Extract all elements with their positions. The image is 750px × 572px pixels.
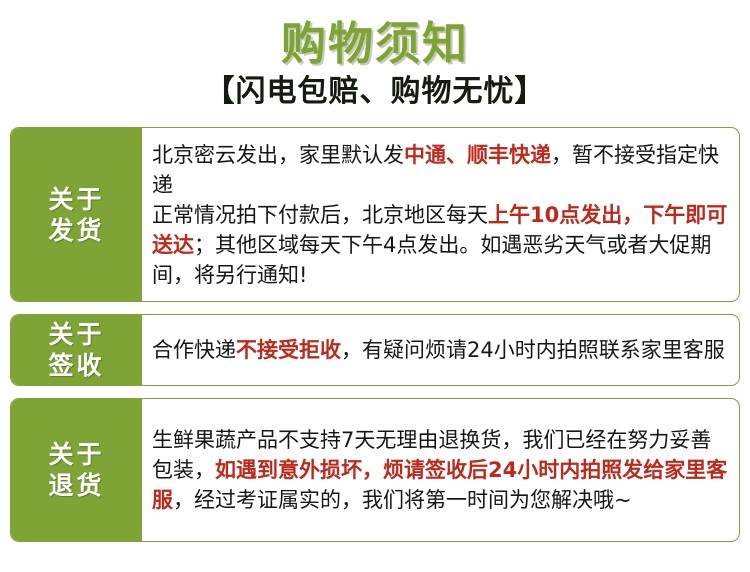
section-label-line-1: 关于 [48, 439, 104, 470]
shopping-notice-page: 购物须知 【闪电包赔、购物无忧】 关于 发货 北京密云发出，家里默认发中通、顺丰… [0, 0, 750, 572]
section-label-line-2: 发货 [48, 215, 104, 246]
page-header: 购物须知 【闪电包赔、购物无忧】 [0, 0, 750, 110]
body-text: 合作快递 [152, 338, 236, 362]
section-label-line-1: 关于 [48, 184, 104, 215]
section-delivery: 关于 发货 北京密云发出，家里默认发中通、顺丰快递，暂不接受指定快递 正常情况拍… [10, 127, 740, 302]
section-signing: 关于 签收 合作快递不接受拒收，有疑问烦请24小时内拍照联系家里客服 [10, 314, 740, 386]
section-body-signing: 合作快递不接受拒收，有疑问烦请24小时内拍照联系家里客服 [142, 315, 739, 385]
page-title: 购物须知 [0, 18, 750, 70]
notice-sections: 关于 发货 北京密云发出，家里默认发中通、顺丰快递，暂不接受指定快递 正常情况拍… [0, 127, 750, 542]
section-label-line-1: 关于 [48, 319, 104, 350]
body-text: 正常情况拍下付款后，北京地区每天 [152, 203, 488, 227]
body-text: ，有疑问烦请24小时内拍照联系家里客服 [341, 338, 725, 362]
paragraph: 北京密云发出，家里默认发中通、顺丰快递，暂不接受指定快递 [152, 140, 731, 200]
body-text: ，经过考证属实的，我们将第一时间为您解决哦~ [173, 488, 632, 512]
section-body-return: 生鲜果蔬产品不支持7天无理由退换货，我们已经在努力妥善包装，如遇到意外损坏，烦请… [142, 399, 739, 541]
body-text: 北京密云发出，家里默认发 [152, 143, 404, 167]
section-label-return: 关于 退货 [11, 399, 142, 541]
section-label-delivery: 关于 发货 [11, 128, 142, 301]
section-return: 关于 退货 生鲜果蔬产品不支持7天无理由退换货，我们已经在努力妥善包装，如遇到意… [10, 398, 740, 542]
paragraph: 生鲜果蔬产品不支持7天无理由退换货，我们已经在努力妥善包装，如遇到意外损坏，烦请… [152, 425, 731, 515]
body-text: ；其他区域每天下午4点发出。如遇恶劣天气或者大促期间，将另行通知! [152, 233, 711, 287]
section-body-delivery: 北京密云发出，家里默认发中通、顺丰快递，暂不接受指定快递 正常情况拍下付款后，北… [142, 128, 739, 301]
highlighted-text: 不接受拒收 [236, 338, 341, 362]
page-subtitle: 【闪电包赔、购物无忧】 [0, 74, 750, 110]
paragraph: 正常情况拍下付款后，北京地区每天上午10点发出，下午即可送达；其他区域每天下午4… [152, 200, 731, 290]
section-label-line-2: 签收 [48, 350, 104, 381]
paragraph: 合作快递不接受拒收，有疑问烦请24小时内拍照联系家里客服 [152, 335, 731, 365]
section-label-line-2: 退货 [48, 470, 104, 501]
section-label-signing: 关于 签收 [11, 315, 142, 385]
highlighted-text: 中通、顺丰快递 [404, 143, 551, 167]
